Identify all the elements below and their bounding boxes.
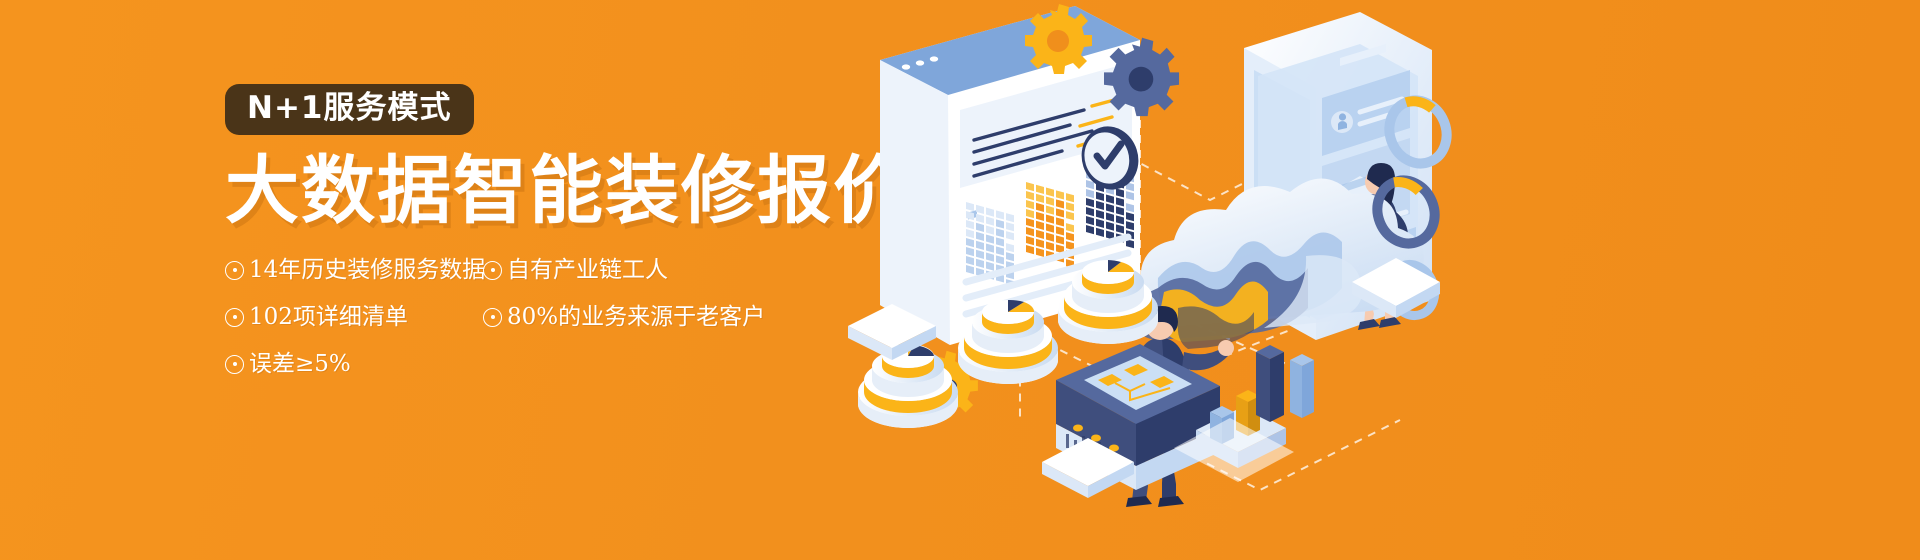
circled-dot-icon xyxy=(225,308,244,327)
circled-dot-icon xyxy=(483,261,502,280)
circled-dot-icon xyxy=(225,355,244,374)
list-item-label: 102项详细清单 xyxy=(249,306,408,329)
circled-dot-icon xyxy=(225,261,244,280)
list-item: 80%的业务来源于老客户 xyxy=(483,306,783,329)
list-item-label: 14年历史装修服务数据 xyxy=(249,259,485,282)
circled-dot-icon xyxy=(483,308,502,327)
list-item-label: 80%的业务来源于老客户 xyxy=(507,306,765,329)
big-data-isometric-illustration xyxy=(840,0,1920,560)
feature-column-right: 自有产业链工人 80%的业务来源于老客户 xyxy=(483,259,783,400)
list-item: 误差≥5% xyxy=(225,353,483,376)
list-item: 自有产业链工人 xyxy=(483,259,783,282)
list-item-label: 误差≥5% xyxy=(249,353,351,376)
feature-column-left: 14年历史装修服务数据 102项详细清单 误差≥5% xyxy=(225,259,483,400)
service-mode-badge: N+1服务模式 xyxy=(225,84,474,135)
promo-banner: N+1服务模式 大数据智能装修报价 14年历史装修服务数据 102项详细清单 误… xyxy=(0,0,1920,560)
gear-yellow xyxy=(1025,4,1092,74)
pie-tower-1 xyxy=(858,344,958,428)
list-item: 14年历史装修服务数据 xyxy=(225,259,483,282)
list-item-label: 自有产业链工人 xyxy=(507,259,668,282)
list-item: 102项详细清单 xyxy=(225,306,483,329)
